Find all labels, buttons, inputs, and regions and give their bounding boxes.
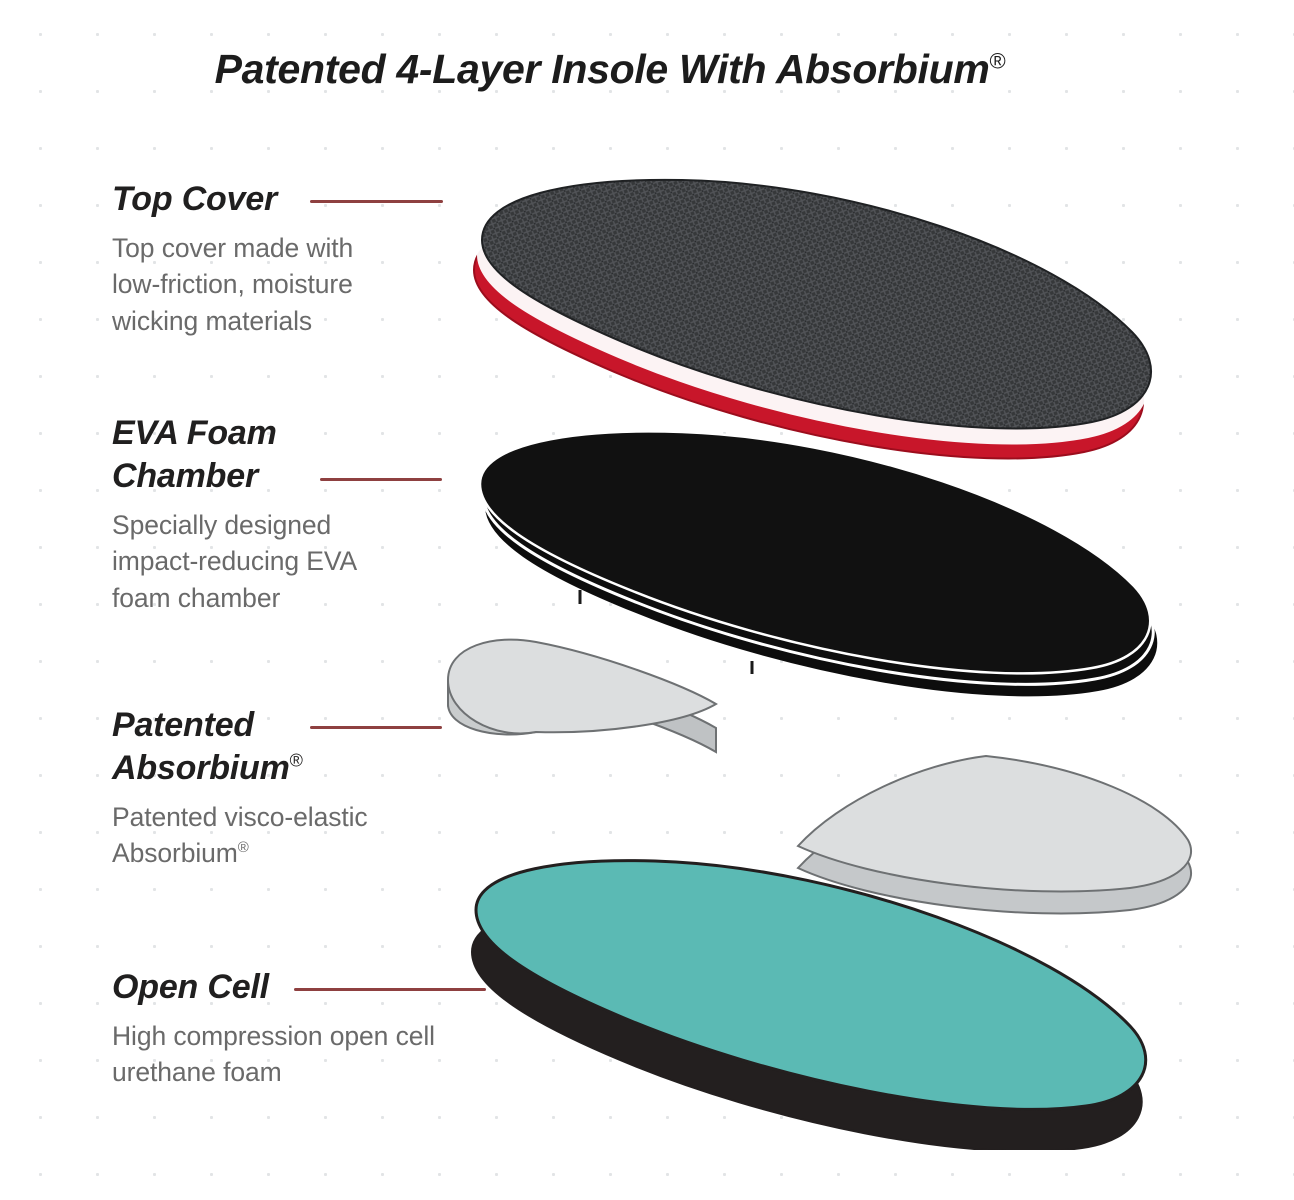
registered-trademark-icon: ®	[238, 839, 249, 856]
layer-description-absorbium-text: Patented visco-elastic Absorbium	[112, 802, 368, 869]
leader-line-top-cover	[310, 200, 443, 203]
leader-line-absorbium	[310, 726, 442, 729]
registered-trademark-icon: ®	[290, 751, 303, 771]
absorbium-forefoot-top-face	[448, 640, 716, 734]
open-cell-teal-surface	[476, 861, 1146, 1110]
registered-trademark-icon: ®	[990, 48, 1006, 73]
page-title-text: Patented 4-Layer Insole With Absorbium	[215, 46, 990, 92]
leader-line-eva-foam	[320, 478, 442, 481]
page-title: Patented 4-Layer Insole With Absorbium®	[0, 46, 1220, 93]
infographic-stage: Patented 4-Layer Insole With Absorbium® …	[0, 0, 1294, 1200]
open-cell-foam-illustration	[440, 840, 1180, 1150]
layer-heading-absorbium-text: Patented Absorbium	[112, 706, 290, 787]
top-cover-fabric-surface	[482, 180, 1151, 429]
absorbium-wedge-illustration	[432, 628, 752, 768]
